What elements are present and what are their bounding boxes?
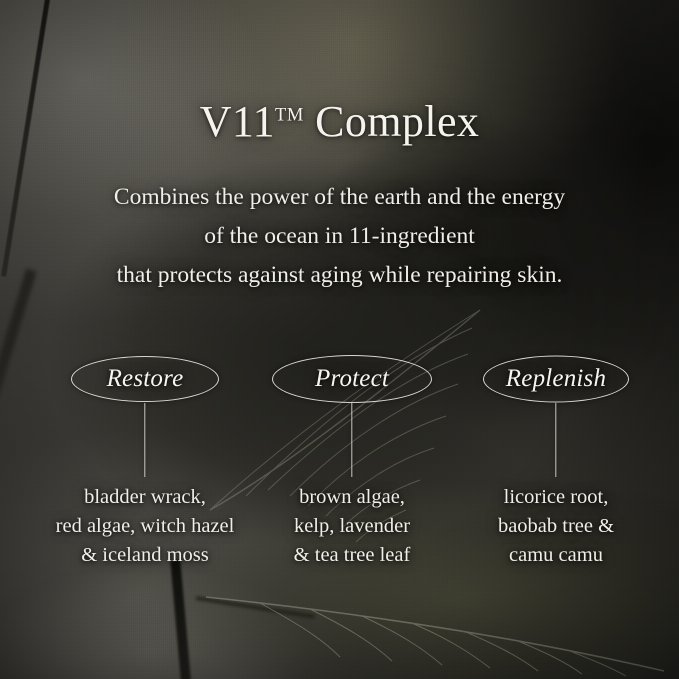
ingredient-line: brown algae, bbox=[248, 483, 456, 512]
benefit-column-protect: Protect brown algae, kelp, lavender & te… bbox=[248, 355, 456, 403]
ingredient-line: & iceland moss bbox=[35, 541, 255, 570]
v11-complex-infographic: V11TM Complex Combines the power of the … bbox=[0, 0, 679, 679]
benefit-column-restore: Restore bladder wrack, red algae, witch … bbox=[35, 355, 255, 403]
badge-label-protect: Protect bbox=[315, 365, 389, 393]
badge-label-replenish: Replenish bbox=[506, 365, 606, 393]
ingredient-list-protect: brown algae, kelp, lavender & tea tree l… bbox=[248, 483, 456, 570]
benefit-columns: Restore bladder wrack, red algae, witch … bbox=[0, 355, 679, 605]
trademark-symbol: TM bbox=[275, 104, 304, 124]
ingredient-line: kelp, lavender bbox=[248, 512, 456, 541]
content-layer: V11TM Complex Combines the power of the … bbox=[0, 0, 679, 679]
ingredient-list-restore: bladder wrack, red algae, witch hazel & … bbox=[35, 483, 255, 570]
ingredient-line: bladder wrack, bbox=[35, 483, 255, 512]
badge-restore[interactable]: Restore bbox=[35, 355, 255, 403]
ingredient-list-replenish: licorice root, baobab tree & camu camu bbox=[452, 483, 660, 570]
badge-protect[interactable]: Protect bbox=[248, 355, 456, 403]
subtitle-line-3: that protects against aging while repair… bbox=[0, 256, 679, 295]
connector-line-protect bbox=[351, 403, 352, 477]
page-title: V11TM Complex bbox=[0, 96, 679, 147]
subtitle-line-1: Combines the power of the earth and the … bbox=[0, 178, 679, 217]
ingredient-line: red algae, witch hazel bbox=[35, 512, 255, 541]
badge-label-restore: Restore bbox=[107, 365, 184, 393]
subtitle: Combines the power of the earth and the … bbox=[0, 178, 679, 295]
subtitle-line-2: of the ocean in 11-ingredient bbox=[0, 217, 679, 256]
connector-line-replenish bbox=[555, 403, 556, 477]
connector-line-restore bbox=[144, 403, 145, 477]
ingredient-line: licorice root, bbox=[452, 483, 660, 512]
ingredient-line: baobab tree & bbox=[452, 512, 660, 541]
page-title-main: V11 bbox=[200, 97, 275, 146]
badge-replenish[interactable]: Replenish bbox=[452, 355, 660, 403]
benefit-column-replenish: Replenish licorice root, baobab tree & c… bbox=[452, 355, 660, 403]
ingredient-line: & tea tree leaf bbox=[248, 541, 456, 570]
page-title-suffix: Complex bbox=[304, 97, 480, 146]
ingredient-line: camu camu bbox=[452, 541, 660, 570]
